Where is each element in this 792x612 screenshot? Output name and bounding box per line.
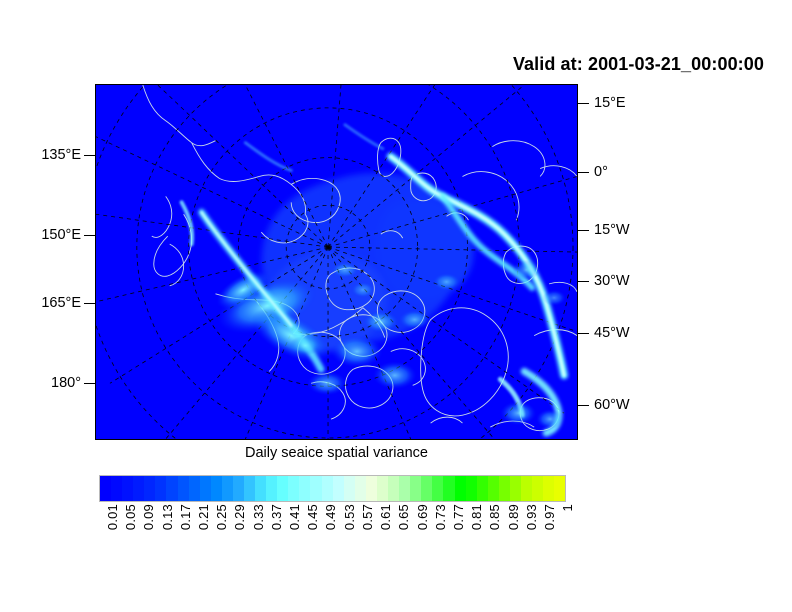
right-axis-label: 30°W bbox=[594, 274, 630, 289]
colorbar-tick-label: 0.49 bbox=[324, 504, 337, 530]
colorbar-tick-label: 0.85 bbox=[488, 504, 501, 530]
colorbar-swatch bbox=[532, 476, 543, 501]
colorbar-tick-label: 0.73 bbox=[434, 504, 447, 530]
colorbar-swatch bbox=[244, 476, 255, 501]
right-axis-tick bbox=[578, 103, 589, 104]
left-axis-label: 180° bbox=[51, 376, 81, 391]
colorbar-swatch bbox=[200, 476, 211, 501]
colorbar-swatch bbox=[399, 476, 410, 501]
colorbar-swatch bbox=[521, 476, 532, 501]
colorbar-swatch bbox=[310, 476, 321, 501]
right-axis-tick bbox=[578, 172, 589, 173]
colorbar-swatch bbox=[111, 476, 122, 501]
colorbar-swatch bbox=[543, 476, 554, 501]
colorbar-swatch bbox=[388, 476, 399, 501]
left-axis-tick bbox=[84, 383, 95, 384]
colorbar-swatch bbox=[155, 476, 166, 501]
colorbar-tick-label: 0.61 bbox=[379, 504, 392, 530]
right-axis-label: 45°W bbox=[594, 326, 630, 341]
colorbar-tick-label: 0.89 bbox=[507, 504, 520, 530]
right-axis-tick bbox=[578, 230, 589, 231]
colorbar-swatch bbox=[466, 476, 477, 501]
colorbar-tick-label: 0.17 bbox=[179, 504, 192, 530]
colorbar-tick-label: 0.65 bbox=[397, 504, 410, 530]
right-axis-tick bbox=[578, 333, 589, 334]
colorbar-swatch bbox=[366, 476, 377, 501]
colorbar-swatch bbox=[510, 476, 521, 501]
right-axis-label: 15°W bbox=[594, 223, 630, 238]
colorbar-swatch bbox=[122, 476, 133, 501]
colorbar-swatch bbox=[189, 476, 200, 501]
colorbar-tick-label: 0.69 bbox=[416, 504, 429, 530]
colorbar-swatch bbox=[222, 476, 233, 501]
north-pole-marker bbox=[326, 245, 329, 248]
colorbar-tick-label: 0.37 bbox=[270, 504, 283, 530]
colorbar-swatch bbox=[255, 476, 266, 501]
colorbar-swatch bbox=[288, 476, 299, 501]
colorbar-tick-label: 0.01 bbox=[106, 504, 119, 530]
colorbar-swatch bbox=[443, 476, 454, 501]
colorbar-swatch bbox=[499, 476, 510, 501]
colorbar-tick-label: 0.41 bbox=[288, 504, 301, 530]
colorbar-tick-label: 0.29 bbox=[233, 504, 246, 530]
colorbar-tick-label: 0.97 bbox=[543, 504, 556, 530]
colorbar-tick-label: 0.05 bbox=[124, 504, 137, 530]
colorbar-tick-label: 0.81 bbox=[470, 504, 483, 530]
colorbar-swatch bbox=[333, 476, 344, 501]
colorbar-swatch bbox=[344, 476, 355, 501]
page-title: Valid at: 2001-03-21_00:00:00 bbox=[0, 54, 764, 75]
colorbar-tick-label: 0.53 bbox=[343, 504, 356, 530]
colorbar-swatch bbox=[322, 476, 333, 501]
left-axis-label: 150°E bbox=[41, 228, 81, 243]
colorbar-swatch bbox=[477, 476, 488, 501]
colorbar-swatch bbox=[355, 476, 366, 501]
colorbar-tick-label: 0.77 bbox=[452, 504, 465, 530]
colorbar-swatch bbox=[455, 476, 466, 501]
colorbar-swatch bbox=[277, 476, 288, 501]
colorbar-swatch bbox=[432, 476, 443, 501]
colorbar-swatch bbox=[100, 476, 111, 501]
colorbar-swatch bbox=[144, 476, 155, 501]
colorbar-swatch bbox=[377, 476, 388, 501]
colorbar-swatch bbox=[488, 476, 499, 501]
right-axis-tick bbox=[578, 281, 589, 282]
colorbar-gradient bbox=[99, 475, 566, 502]
colorbar-swatch bbox=[133, 476, 144, 501]
colorbar-tick-labels: 0.010.050.090.130.170.210.250.290.330.37… bbox=[99, 504, 566, 564]
left-axis-label: 135°E bbox=[41, 148, 81, 163]
colorbar-caption: Daily seaice spatial variance bbox=[95, 445, 578, 461]
right-axis-label: 0° bbox=[594, 165, 608, 180]
colorbar-tick-label: 0.33 bbox=[252, 504, 265, 530]
colorbar-tick-label: 0.13 bbox=[161, 504, 174, 530]
map-canvas bbox=[96, 85, 577, 439]
colorbar-swatch bbox=[178, 476, 189, 501]
colorbar-tick-label: 0.09 bbox=[142, 504, 155, 530]
right-axis-label: 60°W bbox=[594, 398, 630, 413]
colorbar-swatch bbox=[410, 476, 421, 501]
colorbar-swatch bbox=[554, 476, 565, 501]
colorbar-swatch bbox=[299, 476, 310, 501]
colorbar-tick-label: 1 bbox=[561, 504, 574, 511]
colorbar-tick-label: 0.93 bbox=[525, 504, 538, 530]
colorbar-tick-label: 0.21 bbox=[197, 504, 210, 530]
left-axis-tick bbox=[84, 235, 95, 236]
left-axis-tick bbox=[84, 155, 95, 156]
colorbar-tick-label: 0.45 bbox=[306, 504, 319, 530]
left-axis-label: 165°E bbox=[41, 296, 81, 311]
map-plot-area bbox=[95, 84, 578, 440]
right-axis-label: 15°E bbox=[594, 96, 626, 111]
left-axis-tick bbox=[84, 303, 95, 304]
colorbar-swatch bbox=[266, 476, 277, 501]
colorbar-tick-label: 0.57 bbox=[361, 504, 374, 530]
right-axis-tick bbox=[578, 405, 589, 406]
colorbar-swatch bbox=[421, 476, 432, 501]
colorbar-swatch bbox=[233, 476, 244, 501]
colorbar-tick-label: 0.25 bbox=[215, 504, 228, 530]
colorbar bbox=[99, 475, 566, 502]
colorbar-swatch bbox=[166, 476, 177, 501]
colorbar-swatch bbox=[211, 476, 222, 501]
